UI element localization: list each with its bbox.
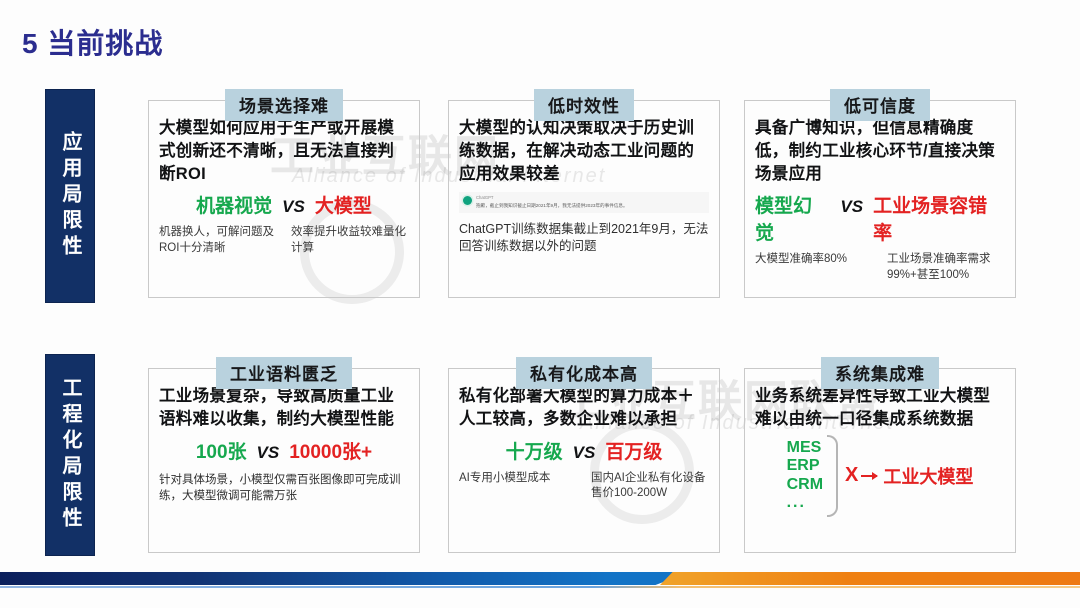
vs-right-label: 工业场景容错率 <box>873 191 1005 245</box>
card-privatization-cost: 私有化成本高 私有化部署大模型的算力成本＋人工较高，多数企业难以承担 十万级 V… <box>448 368 720 553</box>
vs-subcaptions: 大模型准确率80% 工业场景准确率需求99%+甚至100% <box>755 252 1005 283</box>
vs-right-label: 百万级 <box>605 437 662 464</box>
vs-left-label: 机器视觉 <box>196 191 272 218</box>
card-badge: 系统集成难 <box>821 357 939 389</box>
vs-subcaption-left: AI专用小模型成本 <box>459 471 577 502</box>
system-item: CRM <box>787 476 823 494</box>
slide-canvas: 工业互联网 Alliance of Industrial Internet 工业… <box>0 0 1080 608</box>
card-lead-text: 大模型如何应用于生产或开展模式创新还不清晰，且无法直接判断ROI <box>159 117 409 185</box>
system-item: MES <box>787 439 823 457</box>
section-band-application: 应用局限性 <box>46 90 94 302</box>
vs-comparison: 十万级 VS 百万级 <box>459 437 709 464</box>
card-badge: 低时效性 <box>534 89 634 121</box>
card-body: 大模型的认知决策取决于历史训练数据，在解决动态工业问题的应用效果较差 ChatG… <box>449 101 719 297</box>
vs-subcaptions: AI专用小模型成本 国内AI企业私有化设备售价100-200W <box>459 471 709 502</box>
vs-comparison: 模型幻觉 VS 工业场景容错率 <box>755 191 1005 245</box>
footer-bar-underline <box>0 586 1080 588</box>
card-badge: 私有化成本高 <box>516 357 652 389</box>
vs-subcaption-right: 工业场景准确率需求99%+甚至100% <box>887 252 1005 283</box>
chatgpt-message-text: 抱歉，截止到我知识截止日期2021年9月，我无法提供2023年的事件信息。 <box>476 202 705 209</box>
card-body: 私有化部署大模型的算力成本＋人工较高，多数企业难以承担 十万级 VS 百万级 A… <box>449 369 719 552</box>
card-corpus-scarcity: 工业语料匮乏 工业场景复杂，导致高质量工业语料难以收集，制约大模型性能 100张… <box>148 368 420 553</box>
vs-subcaptions: 机器换人，可解问题及ROI十分清晰 效率提升收益较难量化计算 <box>159 225 409 256</box>
card-badge: 工业语料匮乏 <box>216 357 352 389</box>
section-band-label: 工程化局限性 <box>60 377 80 533</box>
vs-separator: VS <box>840 197 863 217</box>
card-body: 大模型如何应用于生产或开展模式创新还不清晰，且无法直接判断ROI 机器视觉 VS… <box>149 101 419 297</box>
card-badge: 低可信度 <box>830 89 930 121</box>
vs-comparison: 机器视觉 VS 大模型 <box>159 191 409 218</box>
section-band-engineering: 工程化局限性 <box>46 355 94 555</box>
card-body: 工业场景复杂，导致高质量工业语料难以收集，制约大模型性能 100张 VS 100… <box>149 369 419 552</box>
diagram-target-label: 工业大模型 <box>883 463 973 489</box>
vs-subcaption-left: 大模型准确率80% <box>755 252 873 283</box>
section-band-label: 应用局限性 <box>60 131 80 261</box>
card-lead-text: 私有化部署大模型的算力成本＋人工较高，多数企业难以承担 <box>459 385 709 431</box>
card-caption: 针对具体场景，小模型仅需百张图像即可完成训练，大模型微调可能需万张 <box>159 472 409 504</box>
card-system-integration: 系统集成难 业务系统差异性导致工业大模型难以由统一口径集成系统数据 MES ER… <box>744 368 1016 553</box>
card-lead-text: 业务系统差异性导致工业大模型难以由统一口径集成系统数据 <box>755 385 1005 431</box>
vs-separator: VS <box>282 197 305 217</box>
card-lead-text: 工业场景复杂，导致高质量工业语料难以收集，制约大模型性能 <box>159 385 409 431</box>
card-low-timeliness: 低时效性 大模型的认知决策取决于历史训练数据，在解决动态工业问题的应用效果较差 … <box>448 100 720 298</box>
vs-separator: VS <box>573 443 596 463</box>
vs-subcaption-right: 效率提升收益较难量化计算 <box>291 225 409 256</box>
system-integration-diagram: MES ERP CRM ... X 工业大模型 <box>755 435 1005 517</box>
card-lead-text: 大模型的认知决策取决于历史训练数据，在解决动态工业问题的应用效果较差 <box>459 117 709 185</box>
footer-bar-blue-segment <box>0 572 690 585</box>
footer-bar-orange-segment <box>660 572 1080 585</box>
arrow-right-icon <box>861 475 877 477</box>
card-lead-text: 具备广博知识，但信息精确度低，制约工业核心环节/直接决策场景应用 <box>755 117 1005 185</box>
brace-icon <box>827 435 838 517</box>
card-caption: ChatGPT训练数据集截止到2021年9月，无法回答训练数据以外的问题 <box>459 221 709 256</box>
vs-right-label: 10000张+ <box>289 437 372 464</box>
vs-right-label: 大模型 <box>315 191 372 218</box>
system-list: MES ERP CRM ... <box>787 439 823 513</box>
vs-subcaption-left: 机器换人，可解问题及ROI十分清晰 <box>159 225 277 256</box>
chatgpt-avatar-icon <box>463 196 472 205</box>
card-low-credibility: 低可信度 具备广博知识，但信息精确度低，制约工业核心环节/直接决策场景应用 模型… <box>744 100 1016 298</box>
cross-mark-icon: X <box>845 464 858 487</box>
vs-left-label: 100张 <box>196 437 247 464</box>
card-scene-selection: 场景选择难 大模型如何应用于生产或开展模式创新还不清晰，且无法直接判断ROI 机… <box>148 100 420 298</box>
chatgpt-screenshot: ChatGPT 抱歉，截止到我知识截止日期2021年9月，我无法提供2023年的… <box>459 192 709 213</box>
footer-bar <box>0 572 1080 585</box>
card-body: 业务系统差异性导致工业大模型难以由统一口径集成系统数据 MES ERP CRM … <box>745 369 1015 552</box>
vs-left-label: 十万级 <box>506 437 563 464</box>
system-item-ellipsis: ... <box>787 494 823 512</box>
vs-comparison: 100张 VS 10000张+ <box>159 437 409 464</box>
vs-separator: VS <box>257 443 280 463</box>
chatgpt-message-block: ChatGPT 抱歉，截止到我知识截止日期2021年9月，我无法提供2023年的… <box>476 195 705 209</box>
vs-left-label: 模型幻觉 <box>755 191 830 245</box>
page-title: 5 当前挑战 <box>22 22 163 62</box>
card-body: 具备广博知识，但信息精确度低，制约工业核心环节/直接决策场景应用 模型幻觉 VS… <box>745 101 1015 297</box>
system-item: ERP <box>787 457 823 475</box>
vs-subcaption-right: 国内AI企业私有化设备售价100-200W <box>591 471 709 502</box>
card-badge: 场景选择难 <box>225 89 343 121</box>
